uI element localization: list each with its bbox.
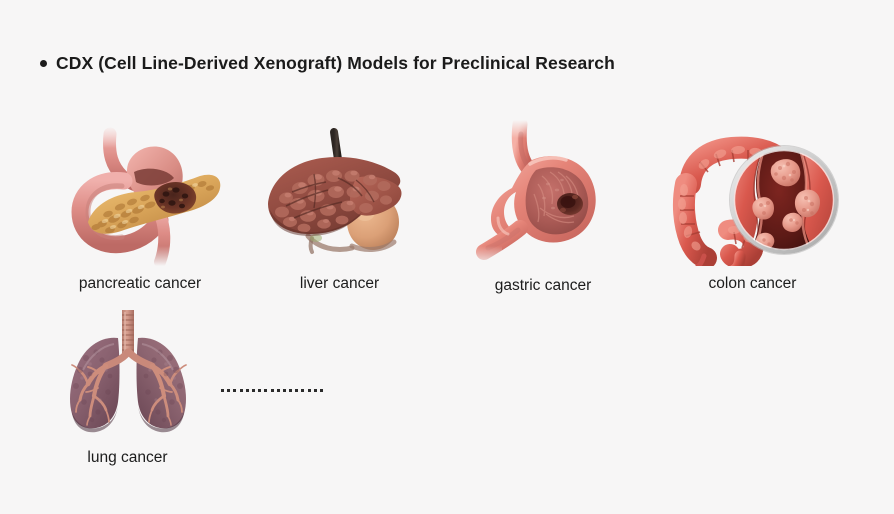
ellipsis-dot	[264, 389, 267, 392]
ellipsis-dot	[289, 389, 292, 392]
slide-canvas: CDX (Cell Line-Derived Xenograft) Models…	[0, 0, 894, 514]
bullet-icon	[40, 60, 47, 67]
ellipsis-dot	[252, 389, 255, 392]
ellipsis-dot	[271, 389, 274, 392]
model-card-liver: liver cancer	[252, 126, 427, 294]
page-title-text: CDX (Cell Line-Derived Xenograft) Models…	[56, 50, 615, 76]
ellipsis-dot	[221, 389, 224, 392]
ellipsis-dot	[258, 389, 261, 392]
pancreas-tumor-illustration	[50, 126, 230, 266]
ellipsis-dot	[314, 389, 317, 392]
ellipsis-dot	[227, 389, 230, 392]
model-label-colon: colon cancer	[709, 274, 797, 294]
model-card-colon: colon cancer	[660, 126, 845, 294]
ellipsis-dots	[221, 389, 323, 392]
model-card-lung: lung cancer	[50, 306, 205, 468]
page-title: CDX (Cell Line-Derived Xenograft) Models…	[40, 50, 615, 76]
ellipsis-dot	[283, 389, 286, 392]
lungs-illustration	[50, 306, 205, 438]
model-card-pancreatic: pancreatic cancer	[50, 126, 230, 294]
ellipsis-dot	[295, 389, 298, 392]
stomach-tumor-illustration	[458, 120, 628, 266]
ellipsis-dot	[233, 389, 236, 392]
model-label-gastric: gastric cancer	[495, 276, 591, 296]
ellipsis-dot	[308, 389, 311, 392]
model-card-gastric: gastric cancer	[458, 120, 628, 296]
model-label-lung: lung cancer	[87, 448, 167, 468]
colon-polyps-magnifier-illustration	[660, 126, 845, 266]
ellipsis-dot	[240, 389, 243, 392]
liver-cirrhosis-illustration	[252, 126, 427, 266]
ellipsis-dot	[320, 389, 323, 392]
ellipsis-dot	[301, 389, 304, 392]
model-label-liver: liver cancer	[300, 274, 379, 294]
ellipsis-dot	[277, 389, 280, 392]
ellipsis-dot	[246, 389, 249, 392]
model-label-pancreatic: pancreatic cancer	[79, 274, 201, 294]
